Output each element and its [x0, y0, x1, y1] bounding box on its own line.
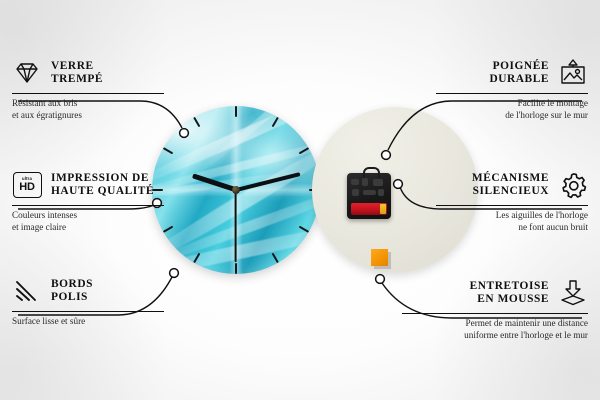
feature-description: Couleurs intenses et image claire	[12, 210, 164, 233]
feature-title: MÉCANISME SILENCIEUX	[472, 172, 549, 199]
feature-divider	[12, 311, 164, 312]
feature-bords-polis[interactable]: BORDS POLIS Surface lisse et sûre	[12, 274, 164, 328]
feature-verre-trempe[interactable]: VERRE TREMPÉ Résistant aux bris et aux é…	[12, 56, 164, 121]
feature-title: BORDS POLIS	[51, 278, 93, 305]
feature-header: POIGNÉE DURABLE	[436, 56, 588, 90]
clock-second-hand	[235, 190, 237, 262]
feature-header: MÉCANISME SILENCIEUX	[436, 168, 588, 202]
clock-front-product-image	[152, 106, 320, 274]
feature-divider	[436, 93, 588, 94]
feature-title: POIGNÉE DURABLE	[489, 60, 549, 87]
feature-mecanisme-silencieux[interactable]: MÉCANISME SILENCIEUX Les aiguilles de l'…	[436, 168, 588, 233]
battery	[351, 203, 387, 215]
clock-tick	[235, 106, 237, 190]
clock-tick	[152, 189, 236, 191]
foam-spacer	[371, 249, 388, 266]
feature-impression-hd[interactable]: ultra HD IMPRESSION DE HAUTE QUALITÉ Cou…	[12, 168, 164, 233]
picture-hanger-icon	[558, 58, 588, 88]
mechanism-details	[351, 178, 387, 198]
feature-poignee-durable[interactable]: POIGNÉE DURABLE Facilite le montage de l…	[436, 56, 588, 121]
feature-description: Résistant aux bris et aux égratignures	[12, 98, 164, 121]
mechanism-hanger-hook	[363, 167, 380, 178]
gear-icon	[558, 170, 588, 200]
feature-description: Facilite le montage de l'horloge sur le …	[436, 98, 588, 121]
feature-divider	[402, 313, 588, 314]
feature-entretoise-mousse[interactable]: ENTRETOISE EN MOUSSE Permet de maintenir…	[436, 276, 588, 341]
feature-header: ultra HD IMPRESSION DE HAUTE QUALITÉ	[12, 168, 164, 202]
feature-description: Les aiguilles de l'horloge ne font aucun…	[436, 210, 588, 233]
feature-title: VERRE TREMPÉ	[51, 60, 103, 87]
polished-edges-icon	[12, 276, 42, 306]
ultra-hd-badge-icon: ultra HD	[12, 170, 42, 200]
feature-divider	[12, 205, 164, 206]
feature-description: Surface lisse et sûre	[12, 316, 164, 327]
feature-header: VERRE TREMPÉ	[12, 56, 164, 90]
feature-description: Permet de maintenir une distance uniform…	[402, 318, 588, 341]
feature-header: BORDS POLIS	[12, 274, 164, 308]
clock-tick	[236, 189, 320, 191]
clock-center-hub	[232, 186, 240, 194]
feature-title: IMPRESSION DE HAUTE QUALITÉ	[51, 172, 154, 199]
diamond-icon	[12, 58, 42, 88]
infographic-canvas: VERRE TREMPÉ Résistant aux bris et aux é…	[0, 0, 600, 400]
feature-title: ENTRETOISE EN MOUSSE	[470, 280, 549, 307]
feature-divider	[436, 205, 588, 206]
foam-spacer-icon	[558, 278, 588, 308]
hd-label: HD	[19, 182, 35, 193]
clock-mechanism	[347, 173, 391, 219]
feature-header: ENTRETOISE EN MOUSSE	[436, 276, 588, 310]
connector-dot-right-3	[376, 275, 385, 284]
feature-divider	[12, 93, 164, 94]
